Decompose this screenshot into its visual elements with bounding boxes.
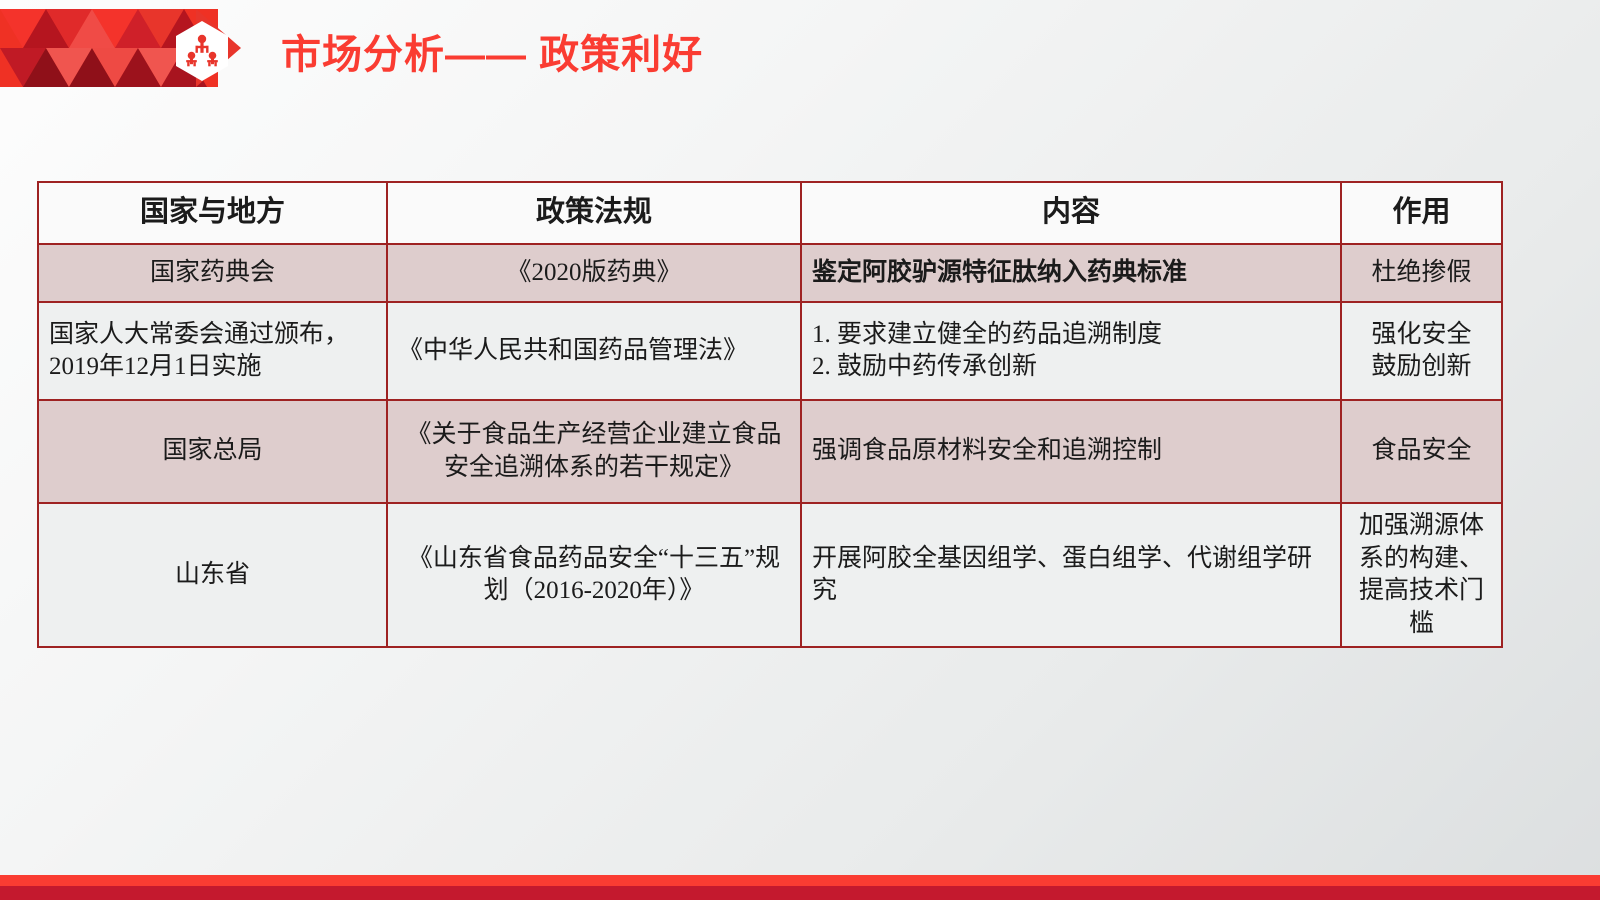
cell-policy: 《关于食品生产经营企业建立食品安全追溯体系的若干规定》 bbox=[387, 400, 801, 503]
cell-region: 国家人大常委会通过颁布，2019年12月1日实施 bbox=[38, 302, 387, 400]
table-header-row: 国家与地方 政策法规 内容 作用 bbox=[38, 182, 1502, 244]
cell-effect: 杜绝掺假 bbox=[1341, 244, 1502, 302]
column-header-content: 内容 bbox=[801, 182, 1341, 244]
cell-content: 强调食品原材料安全和追溯控制 bbox=[801, 400, 1341, 503]
cell-region: 国家药典会 bbox=[38, 244, 387, 302]
page-title: 市场分析—— 政策利好 bbox=[281, 22, 703, 80]
cell-content: 开展阿胶全基因组学、蛋白组学、代谢组学研究 bbox=[801, 503, 1341, 647]
team-network-hexagon-logo bbox=[174, 20, 230, 82]
cell-region: 山东省 bbox=[38, 503, 387, 647]
column-header-effect: 作用 bbox=[1341, 182, 1502, 244]
column-header-region: 国家与地方 bbox=[38, 182, 387, 244]
footer-accent-bar-bright bbox=[0, 875, 1600, 886]
cell-policy: 《山东省食品药品安全“十三五”规划（2016-2020年）》 bbox=[387, 503, 801, 647]
table-row: 国家人大常委会通过颁布，2019年12月1日实施 《中华人民共和国药品管理法》 … bbox=[38, 302, 1502, 400]
cell-content: 鉴定阿胶驴源特征肽纳入药典标准 bbox=[801, 244, 1341, 302]
footer-accent-bar-dark bbox=[0, 886, 1600, 900]
cell-policy: 《2020版药典》 bbox=[387, 244, 801, 302]
policy-regulation-table: 国家与地方 政策法规 内容 作用 国家药典会 《2020版药典》 鉴定阿胶驴源特… bbox=[37, 181, 1503, 648]
cell-effect: 强化安全鼓励创新 bbox=[1341, 302, 1502, 400]
cell-region: 国家总局 bbox=[38, 400, 387, 503]
cell-content: 1. 要求建立健全的药品追溯制度2. 鼓励中药传承创新 bbox=[801, 302, 1341, 400]
decorative-triangle-banner bbox=[0, 9, 260, 87]
table-row: 山东省 《山东省食品药品安全“十三五”规划（2016-2020年）》 开展阿胶全… bbox=[38, 503, 1502, 647]
cell-policy: 《中华人民共和国药品管理法》 bbox=[387, 302, 801, 400]
table-row: 国家药典会 《2020版药典》 鉴定阿胶驴源特征肽纳入药典标准 杜绝掺假 bbox=[38, 244, 1502, 302]
column-header-policy: 政策法规 bbox=[387, 182, 801, 244]
cell-effect: 加强溯源体系的构建、提高技术门槛 bbox=[1341, 503, 1502, 647]
cell-effect: 食品安全 bbox=[1341, 400, 1502, 503]
slide-header: 市场分析—— 政策利好 bbox=[0, 0, 1600, 100]
table-row: 国家总局 《关于食品生产经营企业建立食品安全追溯体系的若干规定》 强调食品原材料… bbox=[38, 400, 1502, 503]
